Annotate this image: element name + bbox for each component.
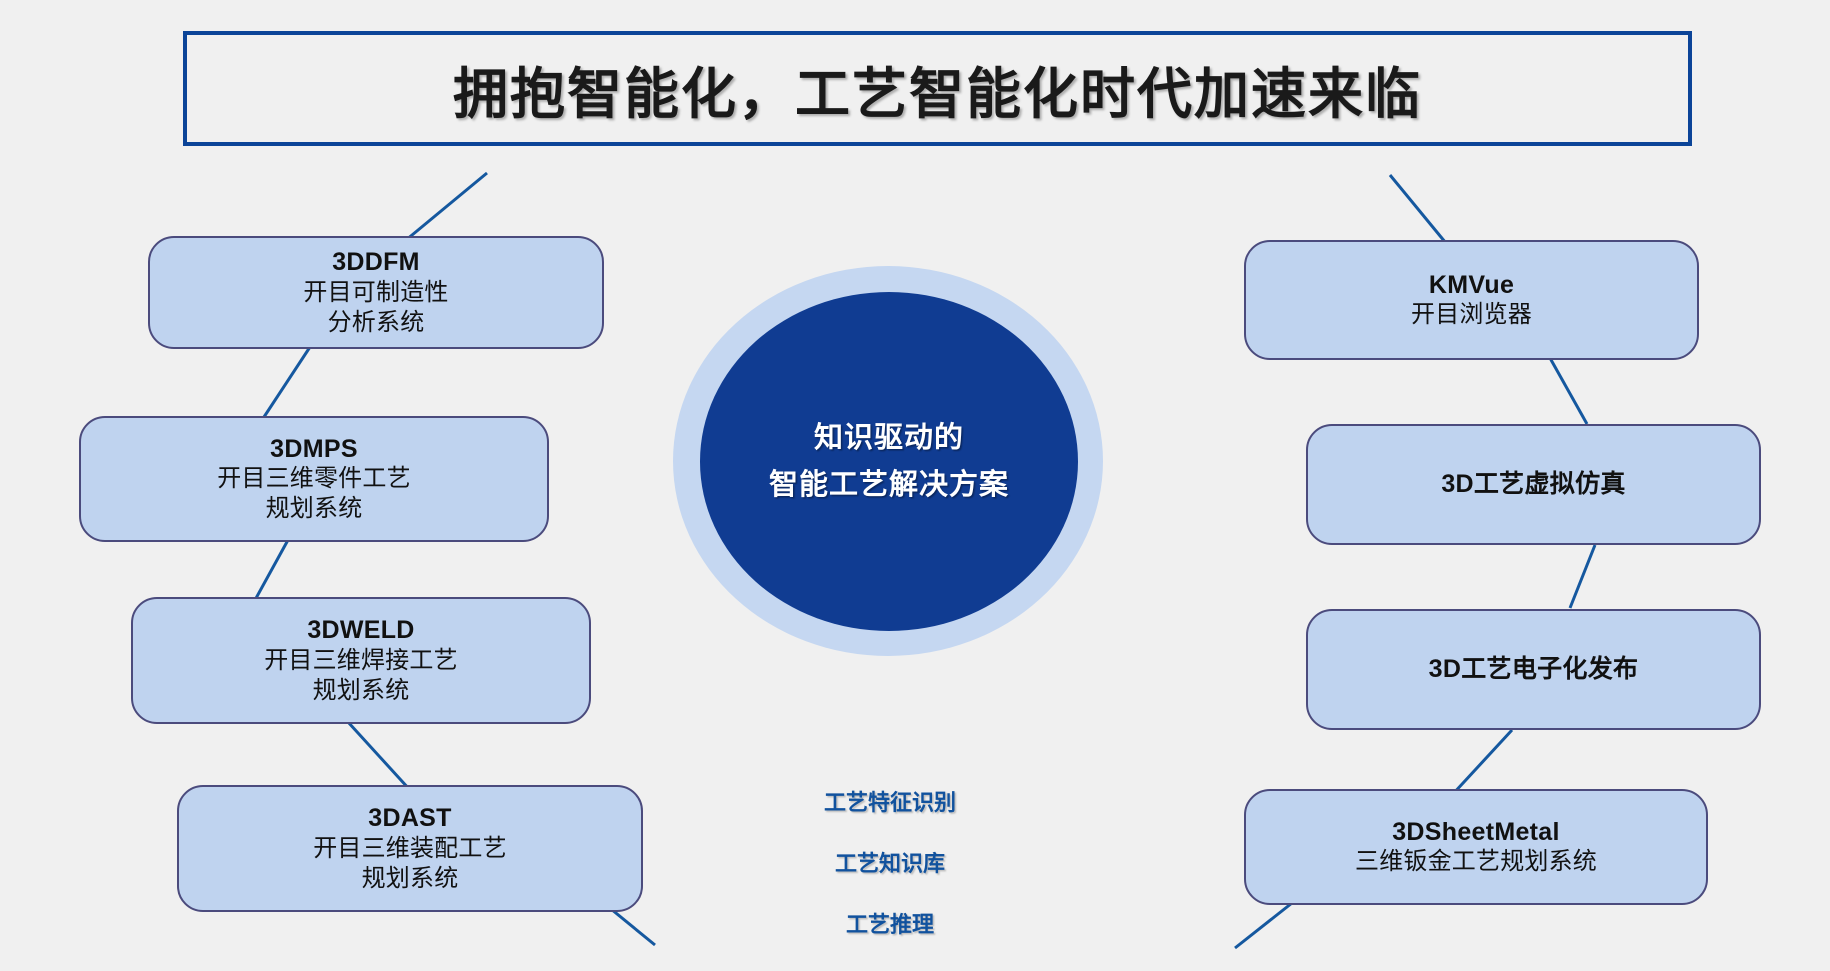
keyword-process-reasoning[interactable]: 工艺推理 bbox=[795, 907, 985, 939]
node-3dweld-title: 3DWELD bbox=[307, 615, 414, 646]
diagram-canvas: 拥抱智能化，工艺智能化时代加速来临 3DDFM 开目可制造性 分析系统 3DMP… bbox=[0, 0, 1830, 971]
connector-sheetmetal-tail bbox=[1235, 903, 1292, 948]
keyword-label-2: 工艺知识库 bbox=[835, 851, 945, 876]
node-3dast-sub1: 开目三维装配工艺 bbox=[313, 834, 507, 864]
center-core-line1: 知识驱动的 bbox=[814, 415, 964, 462]
center-core-line2: 智能工艺解决方案 bbox=[769, 462, 1009, 509]
connector-3dmps-to-3dweld bbox=[255, 540, 288, 600]
node-3dast[interactable]: 3DAST 开目三维装配工艺 规划系统 bbox=[177, 785, 643, 912]
keyword-label-3: 工艺推理 bbox=[846, 912, 934, 937]
node-3ddfm-title: 3DDFM bbox=[332, 247, 420, 278]
node-kmvue[interactable]: KMVue 开目浏览器 bbox=[1244, 240, 1699, 360]
title-banner: 拥抱智能化，工艺智能化时代加速来临 bbox=[183, 31, 1692, 146]
keyword-process-feature-recognition[interactable]: 工艺特征识别 bbox=[795, 785, 985, 817]
node-3ddfm-sub1: 开目可制造性 bbox=[303, 278, 448, 308]
node-3dmps[interactable]: 3DMPS 开目三维零件工艺 规划系统 bbox=[79, 416, 549, 542]
connector-3dweld-to-3dast bbox=[348, 722, 410, 790]
node-3dsheetmetal-title: 3DSheetMetal bbox=[1392, 817, 1560, 848]
node-3ddfm-sub2: 分析系统 bbox=[328, 308, 425, 338]
connector-title-to-kmvue bbox=[1390, 175, 1450, 248]
node-3dweld[interactable]: 3DWELD 开目三维焊接工艺 规划系统 bbox=[131, 597, 591, 724]
node-3dmps-title: 3DMPS bbox=[270, 434, 358, 465]
node-3dmps-sub2: 规划系统 bbox=[266, 494, 363, 524]
connector-kmvue-to-sim bbox=[1550, 358, 1587, 424]
node-3dmps-sub1: 开目三维零件工艺 bbox=[217, 464, 411, 494]
keyword-process-knowledge-base[interactable]: 工艺知识库 bbox=[795, 846, 985, 878]
center-core[interactable]: 知识驱动的 智能工艺解决方案 bbox=[700, 292, 1078, 631]
node-3dsheetmetal-sub1: 三维钣金工艺规划系统 bbox=[1355, 847, 1597, 877]
node-3dweld-sub1: 开目三维焊接工艺 bbox=[264, 646, 458, 676]
node-3dsheetmetal[interactable]: 3DSheetMetal 三维钣金工艺规划系统 bbox=[1244, 789, 1708, 905]
connector-title-to-3ddfm bbox=[400, 173, 487, 245]
node-3dweld-sub2: 规划系统 bbox=[313, 676, 410, 706]
connector-3ddfm-to-3dmps bbox=[262, 347, 310, 420]
node-kmvue-sub1: 开目浏览器 bbox=[1411, 300, 1532, 330]
connector-publish-to-sheetmetal bbox=[1452, 730, 1512, 795]
connector-sim-to-publish bbox=[1570, 545, 1595, 608]
node-3d-electronic-publish[interactable]: 3D工艺电子化发布 bbox=[1306, 609, 1761, 730]
node-3d-virtual-simulation-title: 3D工艺虚拟仿真 bbox=[1441, 469, 1625, 500]
node-kmvue-title: KMVue bbox=[1429, 270, 1514, 301]
node-3dast-sub2: 规划系统 bbox=[362, 864, 459, 894]
node-3dast-title: 3DAST bbox=[368, 803, 451, 834]
node-3ddfm[interactable]: 3DDFM 开目可制造性 分析系统 bbox=[148, 236, 604, 349]
node-3d-electronic-publish-title: 3D工艺电子化发布 bbox=[1429, 654, 1639, 685]
page-title: 拥抱智能化，工艺智能化时代加速来临 bbox=[453, 49, 1422, 129]
keyword-label-1: 工艺特征识别 bbox=[824, 790, 956, 815]
node-3d-virtual-simulation[interactable]: 3D工艺虚拟仿真 bbox=[1306, 424, 1761, 545]
